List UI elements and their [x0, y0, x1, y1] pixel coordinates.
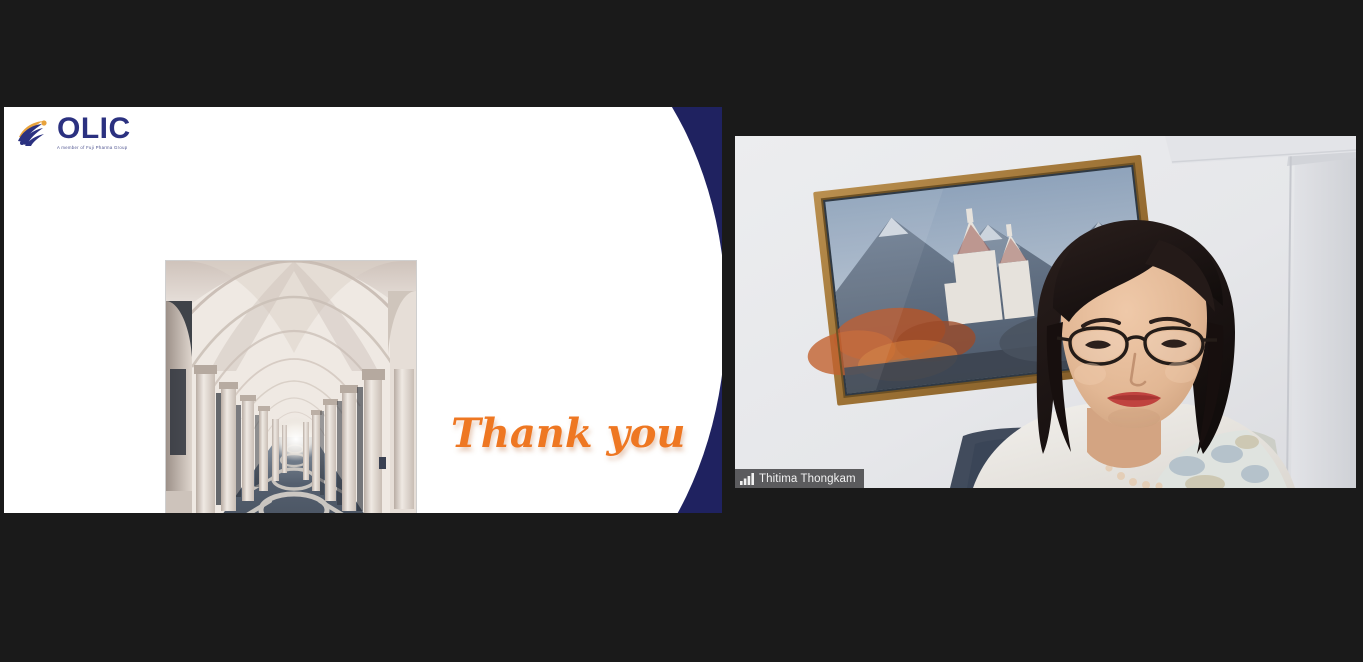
- olic-logo-wordmark: OLIC: [57, 114, 131, 144]
- olic-swoosh-globe-logo-icon: [16, 117, 50, 147]
- video-scene: [735, 136, 1356, 488]
- olic-logo-tagline: A member of Fuji Pharma Group: [57, 146, 131, 150]
- app-stage: Thank you Thitima Thongkam 20 OLIC A mem…: [0, 0, 1363, 662]
- participant-video-tile[interactable]: Thitima Thongkam: [735, 136, 1356, 488]
- signal-bars-icon: [740, 473, 754, 485]
- venice-arcade-photo: [165, 260, 417, 513]
- participant-name-badge: Thitima Thongkam: [735, 469, 864, 488]
- participant-name-label: Thitima Thongkam: [759, 473, 856, 485]
- thank-you-text: Thank you: [447, 403, 657, 465]
- thank-you-glyphs: Thank you: [451, 410, 686, 457]
- shared-slide-panel[interactable]: Thank you Thitima Thongkam 20: [4, 107, 722, 513]
- olic-logo: OLIC A member of Fuji Pharma Group: [16, 114, 131, 150]
